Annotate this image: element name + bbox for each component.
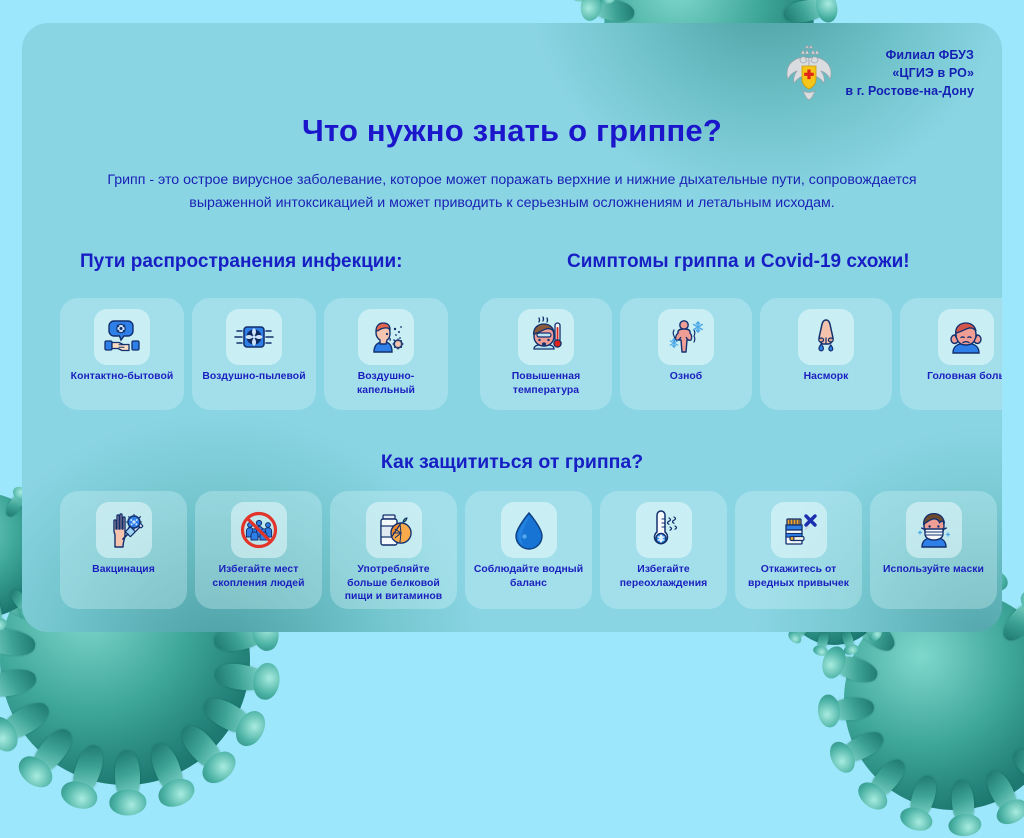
symptom-label-fever: Повышенная температура [480, 370, 612, 397]
no-smoking-icon [771, 502, 827, 558]
protection-card-vaccination[interactable]: Вакцинация [60, 491, 187, 609]
route-card-airborne-dust[interactable]: Воздушно-пылевой [192, 298, 316, 410]
water-drop-icon [501, 502, 557, 558]
protection-card-water[interactable]: Соблюдайте водный баланс [465, 491, 592, 609]
logo-line-1: Филиал ФБУЗ [845, 47, 974, 65]
route-label-contact: Контактно-бытовой [65, 370, 180, 384]
routes-card-row: Контактно-бытовой [60, 298, 448, 410]
protection-card-no-crowd[interactable]: Избегайте мест скопления людей [195, 491, 322, 609]
symptom-card-headache[interactable]: Головная боль [900, 298, 1002, 410]
fan-dust-icon [226, 309, 282, 365]
protection-label-avoid-cold: Избегайте переохлаждения [600, 563, 727, 590]
vitamins-orange-icon [366, 502, 422, 558]
face-mask-person-icon [906, 502, 962, 558]
route-label-airborne-droplet: Воздушно-капельный [324, 370, 448, 397]
route-card-airborne-droplet[interactable]: Воздушно-капельный [324, 298, 448, 410]
handshake-virus-icon [94, 309, 150, 365]
protection-card-no-smoking[interactable]: Откажитесь от вредных привычек [735, 491, 862, 609]
protection-card-row: Вакцинация Избегайте мест скопления люде… [60, 491, 997, 609]
rospotrebnadzor-eagle-emblem [783, 45, 835, 103]
protection-card-nutrition[interactable]: Употребляйте больше белковой пищи и вита… [330, 491, 457, 609]
organization-logo-text: Филиал ФБУЗ «ЦГИЭ в РО» в г. Ростове-на-… [845, 47, 974, 100]
infographic-panel: Филиал ФБУЗ «ЦГИЭ в РО» в г. Ростове-на-… [22, 23, 1002, 632]
logo-line-3: в г. Ростове-на-Дону [845, 83, 974, 101]
protection-label-nutrition: Употребляйте больше белковой пищи и вита… [330, 563, 457, 604]
section-heading-routes: Пути распространения инфекции: [80, 251, 402, 273]
page-title: Что нужно знать о гриппе? [22, 113, 1002, 149]
no-crowd-icon [231, 502, 287, 558]
vaccination-syringe-icon [96, 502, 152, 558]
route-label-airborne-dust: Воздушно-пылевой [196, 370, 311, 384]
symptom-card-fever[interactable]: Повышенная температура [480, 298, 612, 410]
logo-line-2: «ЦГИЭ в РО» [845, 65, 974, 83]
protection-label-masks: Используйте маски [877, 563, 990, 577]
fever-thermometer-icon [518, 309, 574, 365]
protection-card-avoid-cold[interactable]: Избегайте переохлаждения [600, 491, 727, 609]
runny-nose-icon [798, 309, 854, 365]
protection-card-masks[interactable]: Используйте маски [870, 491, 997, 609]
symptom-label-runny-nose: Насморк [798, 370, 855, 384]
headache-icon [938, 309, 994, 365]
intro-paragraph: Грипп - это острое вирусное заболевание,… [77, 169, 947, 215]
cold-thermometer-icon [636, 502, 692, 558]
route-card-contact[interactable]: Контактно-бытовой [60, 298, 184, 410]
symptom-card-chills[interactable]: Озноб [620, 298, 752, 410]
symptoms-card-row: Повышенная температура [480, 298, 1002, 410]
protection-label-water: Соблюдайте водный баланс [465, 563, 592, 590]
sneezing-person-icon [358, 309, 414, 365]
symptom-card-runny-nose[interactable]: Насморк [760, 298, 892, 410]
section-heading-symptoms: Симптомы гриппа и Covid-19 схожи! [567, 251, 910, 273]
protection-label-no-smoking: Откажитесь от вредных привычек [735, 563, 862, 590]
protection-label-no-crowd: Избегайте мест скопления людей [195, 563, 322, 590]
symptom-label-chills: Озноб [664, 370, 709, 384]
protection-label-vaccination: Вакцинация [86, 563, 161, 577]
section-heading-protection: Как защититься от гриппа? [22, 451, 1002, 474]
organization-logo: Филиал ФБУЗ «ЦГИЭ в РО» в г. Ростове-на-… [783, 45, 974, 103]
symptom-label-headache: Головная боль [921, 370, 1002, 384]
chills-snowflake-icon [658, 309, 714, 365]
